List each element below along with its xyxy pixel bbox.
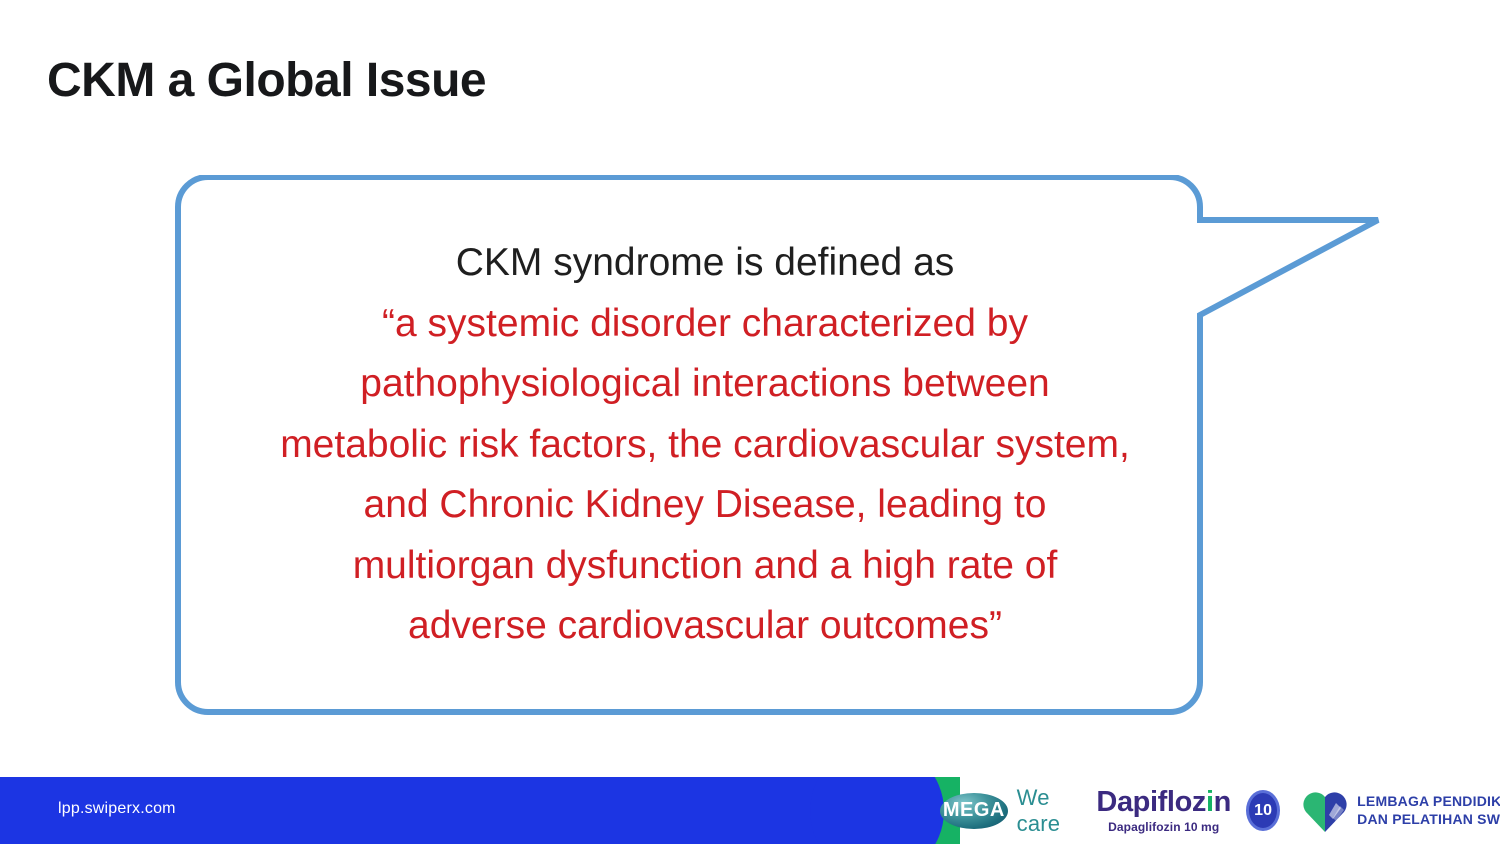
callout-quote-line-1: “a systemic disorder characterized by — [190, 294, 1220, 355]
callout-speech-bubble: CKM syndrome is defined as “a systemic d… — [160, 175, 1400, 735]
dapiflozin-name-prefix: Dapifloz — [1096, 786, 1206, 818]
lpp-swiperx-line-2: DAN PELATIHAN SWIPERX — [1357, 811, 1500, 829]
footer-url-link[interactable]: lpp.swiperx.com — [58, 800, 176, 818]
lpp-swiperx-text: LEMBAGA PENDIDIKAN DAN PELATIHAN SWIPERX — [1357, 793, 1500, 828]
dapiflozin-subtitle: Dapaglifozin 10 mg — [1108, 820, 1219, 834]
callout-lead-line: CKM syndrome is defined as — [190, 233, 1220, 294]
lpp-swiperx-logo: LEMBAGA PENDIDIKAN DAN PELATIHAN SWIPERX — [1303, 789, 1500, 833]
dose-strength-badge: 10 — [1246, 790, 1280, 831]
callout-quote-line-5: multiorgan dysfunction and a high rate o… — [190, 536, 1220, 597]
we-care-tagline: We care — [1017, 785, 1084, 837]
callout-quote-line-6: adverse cardiovascular outcomes” — [190, 596, 1220, 657]
mega-logo-text: MEGA — [940, 793, 1008, 829]
page-title: CKM a Global Issue — [47, 55, 486, 108]
footer-blue-accent-shape — [810, 777, 944, 844]
slide-canvas: CKM a Global Issue CKM syndrome is defin… — [0, 0, 1500, 844]
callout-quote-line-3: metabolic risk factors, the cardiovascul… — [190, 415, 1220, 476]
mega-logo: MEGA — [940, 793, 1008, 829]
lpp-swiperx-line-1: LEMBAGA PENDIDIKAN — [1357, 793, 1500, 811]
heart-icon — [1303, 789, 1349, 833]
footer-logo-cluster: MEGA We care Dapiflozin Dapaglifozin 10 … — [940, 777, 1500, 844]
dapiflozin-name-accent: i — [1206, 786, 1214, 818]
callout-quote-line-2: pathophysiological interactions between — [190, 354, 1220, 415]
callout-text-block: CKM syndrome is defined as “a systemic d… — [190, 233, 1220, 657]
dapiflozin-product-logo: Dapiflozin Dapaglifozin 10 mg — [1096, 788, 1231, 834]
dapiflozin-name-suffix: n — [1214, 786, 1231, 818]
slide-footer: lpp.swiperx.com MEGA We care Dapiflozin … — [0, 777, 1500, 844]
dapiflozin-product-name: Dapiflozin — [1096, 788, 1231, 817]
callout-quote-line-4: and Chronic Kidney Disease, leading to — [190, 475, 1220, 536]
